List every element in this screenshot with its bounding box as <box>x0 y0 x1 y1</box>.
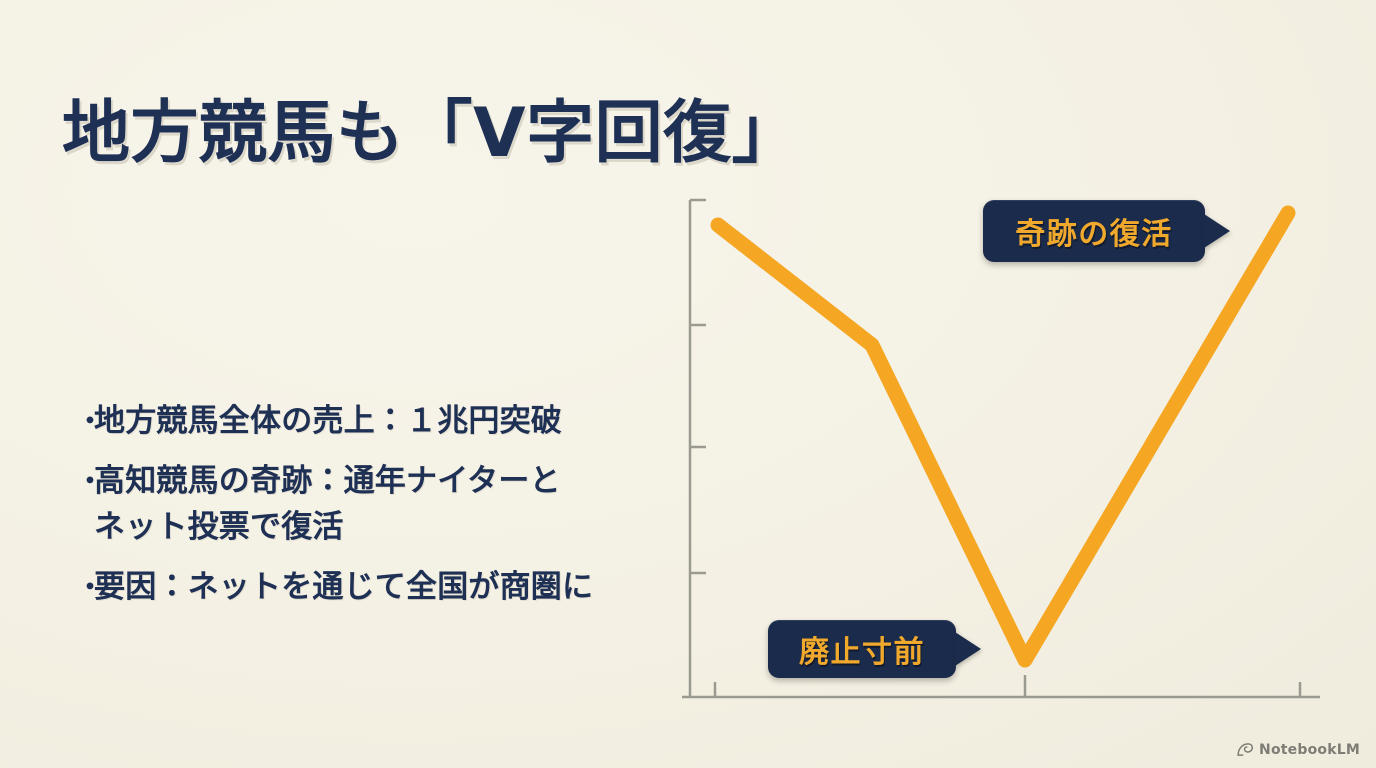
list-item: ・ 地方競馬全体の売上：１兆円突破 <box>74 398 694 444</box>
bullet-marker-icon: ・ <box>74 458 94 504</box>
page-title: 地方競馬も「V字回復」 <box>62 98 800 170</box>
list-item-line-2: ネット投票で復活 <box>94 504 694 550</box>
callout-recovery-label: 奇跡の復活 <box>1015 209 1173 253</box>
x-axis-ticks <box>715 675 1300 697</box>
list-item-text: 要因：ネットを通じて全国が商圏に <box>94 564 694 610</box>
y-axis-ticks <box>690 200 706 573</box>
list-item: ・ 要因：ネットを通じて全国が商圏に <box>74 564 694 610</box>
bullet-marker-icon: ・ <box>74 564 94 610</box>
bullet-marker-icon: ・ <box>74 398 94 444</box>
list-item-line: 高知競馬の奇跡：通年ナイターと <box>94 463 561 499</box>
list-item-line: 要因：ネットを通じて全国が商圏に <box>94 569 593 605</box>
callout-abolition: 廃止寸前 <box>768 620 956 678</box>
notebooklm-watermark: NotebookLM <box>1236 741 1360 758</box>
data-series-line <box>718 213 1288 660</box>
bullet-list: ・ 地方競馬全体の売上：１兆円突破 ・ 高知競馬の奇跡：通年ナイターと ネット投… <box>74 398 694 624</box>
callout-abolition-label: 廃止寸前 <box>799 627 925 671</box>
slide-root: 地方競馬も「V字回復」 ・ 地方競馬全体の売上：１兆円突破 ・ 高知競馬の奇跡：… <box>0 0 1376 768</box>
notebooklm-spiral-icon <box>1236 741 1253 758</box>
list-item-text: 地方競馬全体の売上：１兆円突破 <box>94 398 694 444</box>
callout-tail-icon <box>1204 214 1230 248</box>
list-item-text: 高知競馬の奇跡：通年ナイターと ネット投票で復活 <box>94 458 694 550</box>
list-item: ・ 高知競馬の奇跡：通年ナイターと ネット投票で復活 <box>74 458 694 550</box>
callout-recovery: 奇跡の復活 <box>983 200 1205 262</box>
list-item-line: 地方競馬全体の売上：１兆円突破 <box>94 403 562 439</box>
callout-tail-icon <box>955 632 981 666</box>
notebooklm-watermark-label: NotebookLM <box>1259 742 1360 758</box>
